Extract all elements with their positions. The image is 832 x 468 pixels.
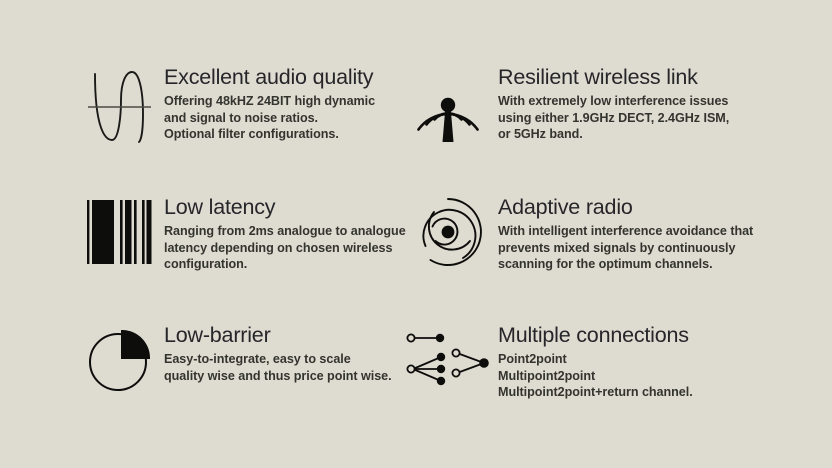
feature-line: quality wise and thus price point wise. bbox=[164, 368, 392, 385]
feature-low-barrier: Low-barrier Easy-to-integrate, easy to s… bbox=[78, 324, 392, 396]
feature-title: Low latency bbox=[164, 196, 406, 220]
feature-line: With intelligent interference avoidance … bbox=[498, 223, 753, 240]
feature-line: or 5GHz band. bbox=[498, 126, 729, 143]
feature-line: scanning for the optimum channels. bbox=[498, 256, 753, 273]
feature-line: Easy-to-integrate, easy to scale bbox=[164, 351, 392, 368]
feature-title: Multiple connections bbox=[498, 324, 693, 348]
radio-spiral-icon bbox=[398, 196, 498, 268]
feature-multiple-connections: Multiple connections Point2point Multipo… bbox=[398, 324, 693, 401]
feature-line: Offering 48kHZ 24BIT high dynamic bbox=[164, 93, 375, 110]
feature-text: Excellent audio quality Offering 48kHZ 2… bbox=[164, 66, 375, 143]
feature-line: and signal to noise ratios. bbox=[164, 110, 375, 127]
feature-title: Excellent audio quality bbox=[164, 66, 375, 90]
network-topology-icon bbox=[398, 324, 498, 396]
feature-line: Point2point bbox=[498, 351, 693, 368]
feature-line: Optional filter configurations. bbox=[164, 126, 375, 143]
feature-line: configuration. bbox=[164, 256, 406, 273]
pie-chart-icon bbox=[78, 324, 164, 396]
feature-text: Resilient wireless link With extremely l… bbox=[498, 66, 729, 143]
feature-line: Ranging from 2ms analogue to analogue bbox=[164, 223, 406, 240]
feature-text: Low latency Ranging from 2ms analogue to… bbox=[164, 196, 406, 273]
feature-title: Adaptive radio bbox=[498, 196, 753, 220]
feature-line: prevents mixed signals by continuously bbox=[498, 240, 753, 257]
feature-line: Multipoint2point bbox=[498, 368, 693, 385]
feature-line: using either 1.9GHz DECT, 2.4GHz ISM, bbox=[498, 110, 729, 127]
feature-title: Resilient wireless link bbox=[498, 66, 729, 90]
feature-text: Adaptive radio With intelligent interfer… bbox=[498, 196, 753, 273]
antenna-signal-icon bbox=[398, 66, 498, 146]
feature-text: Multiple connections Point2point Multipo… bbox=[498, 324, 693, 401]
feature-text: Low-barrier Easy-to-integrate, easy to s… bbox=[164, 324, 392, 384]
feature-low-latency: Low latency Ranging from 2ms analogue to… bbox=[78, 196, 406, 273]
feature-adaptive-radio: Adaptive radio With intelligent interfer… bbox=[398, 196, 753, 273]
feature-line: With extremely low interference issues bbox=[498, 93, 729, 110]
feature-line: latency depending on chosen wireless bbox=[164, 240, 406, 257]
feature-title: Low-barrier bbox=[164, 324, 392, 348]
feature-line: Multipoint2point+return channel. bbox=[498, 384, 693, 401]
feature-board: Excellent audio quality Offering 48kHZ 2… bbox=[0, 0, 832, 468]
waveform-icon bbox=[78, 66, 164, 146]
feature-excellent-audio-quality: Excellent audio quality Offering 48kHZ 2… bbox=[78, 66, 375, 146]
feature-resilient-wireless-link: Resilient wireless link With extremely l… bbox=[398, 66, 729, 146]
barcode-icon bbox=[78, 196, 164, 268]
